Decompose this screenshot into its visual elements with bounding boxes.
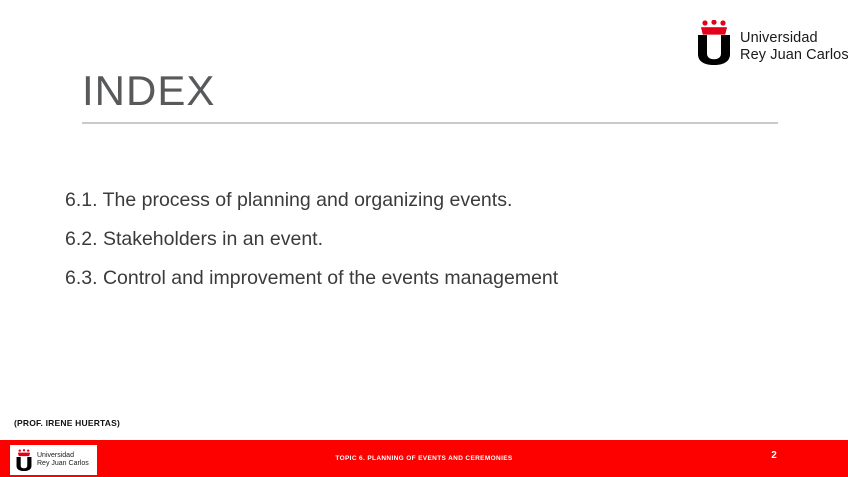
letter-u-icon — [697, 35, 731, 65]
slide-canvas: Universidad Rey Juan Carlos INDEX 6.1. T… — [0, 0, 848, 477]
title-underline-rule — [82, 122, 778, 124]
list-item: 6.1. The process of planning and organiz… — [65, 181, 785, 220]
crown-icon — [699, 20, 729, 36]
university-name-line2: Rey Juan Carlos — [740, 47, 848, 64]
urjc-logo-mark-small — [16, 449, 32, 471]
letter-u-icon — [16, 457, 32, 471]
urjc-logo-mark — [697, 20, 731, 65]
author-note: (PROF. IRENE HUERTAS) — [14, 418, 120, 428]
university-logo-header: Universidad Rey Juan Carlos — [697, 20, 848, 65]
crown-icon — [17, 449, 31, 457]
page-title: INDEX — [82, 66, 215, 116]
university-logo-text-small: Universidad Rey Juan Carlos — [37, 452, 89, 469]
index-list: 6.1. The process of planning and organiz… — [65, 181, 785, 298]
university-name-line1: Universidad — [740, 30, 848, 47]
university-logo-footer: Universidad Rey Juan Carlos — [10, 445, 97, 475]
page-number: 2 — [766, 450, 782, 461]
university-logo-text: Universidad Rey Juan Carlos — [740, 30, 848, 65]
footer-topic-label: TOPIC 6. PLANNING OF EVENTS AND CEREMONI… — [0, 440, 848, 477]
list-item: 6.2. Stakeholders in an event. — [65, 220, 785, 259]
footer-band: Universidad Rey Juan Carlos TOPIC 6. PLA… — [0, 440, 848, 477]
university-name-line2: Rey Juan Carlos — [37, 460, 89, 469]
university-name-line1: Universidad — [37, 452, 89, 461]
list-item: 6.3. Control and improvement of the even… — [65, 259, 785, 298]
